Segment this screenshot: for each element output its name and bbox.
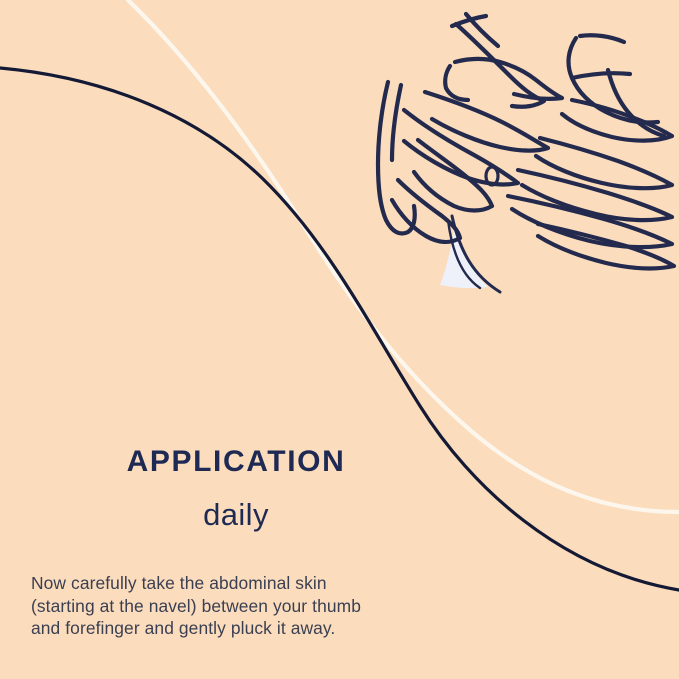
illustration-artwork — [0, 0, 679, 679]
poster-canvas: APPLICATION daily Now carefully take the… — [0, 0, 679, 679]
